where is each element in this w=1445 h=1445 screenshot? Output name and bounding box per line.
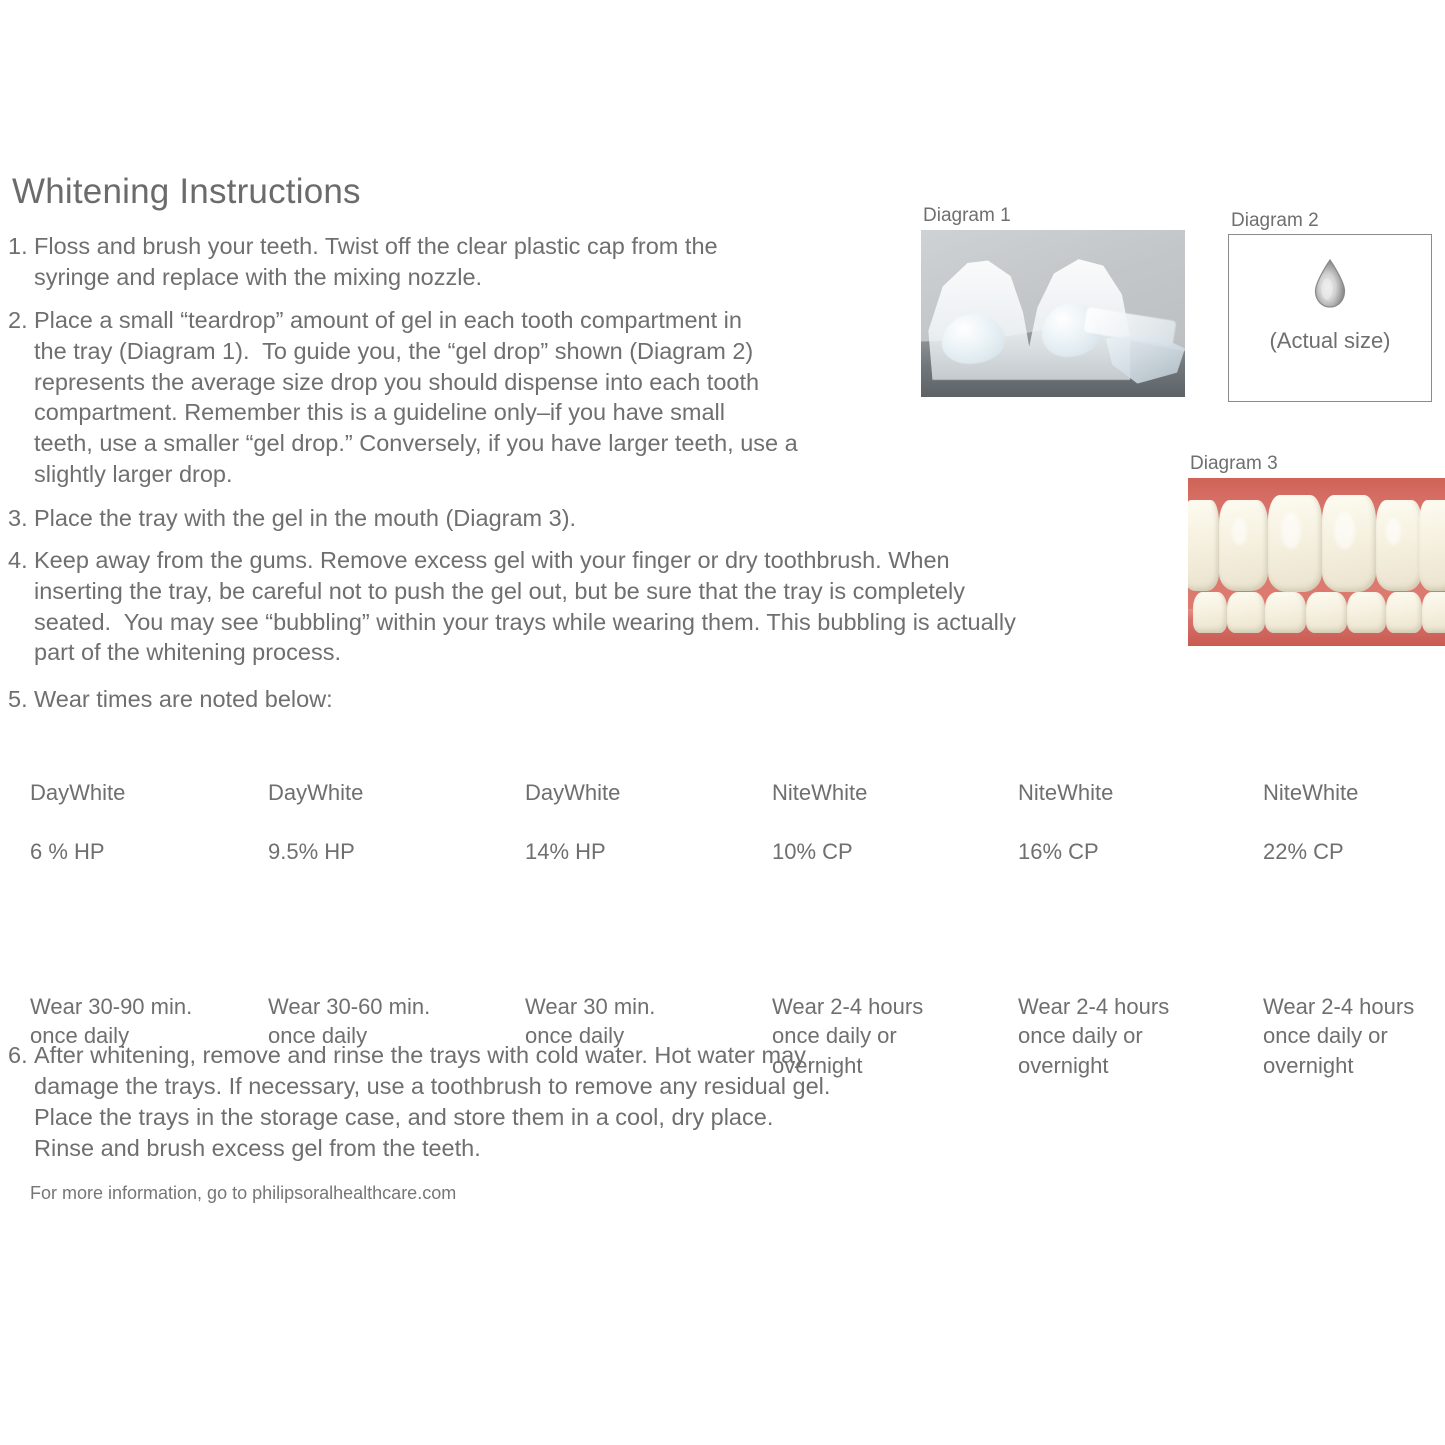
step-line: Floss and brush your teeth. Twist off th… bbox=[34, 231, 828, 262]
wear-times-column: DayWhite 6 % HP Wear 30-90 min. once dai… bbox=[30, 748, 192, 1080]
wear-times-column: DayWhite 9.5% HP Wear 30-60 min. once da… bbox=[268, 748, 430, 1080]
gel-blob-left bbox=[942, 314, 1005, 364]
instruction-step-6: 6. After whitening, remove and rinse the… bbox=[8, 1040, 938, 1164]
tooth-lower bbox=[1306, 592, 1347, 632]
diagram-1-tray-photo bbox=[921, 230, 1185, 397]
instruction-step-5: 5. Wear times are noted below: bbox=[8, 684, 508, 715]
product-brand: NiteWhite bbox=[1018, 778, 1169, 808]
instruction-step-2: 2. Place a small “teardrop” amount of ge… bbox=[8, 305, 888, 490]
gel-drop-icon bbox=[1312, 259, 1349, 309]
wear-times-column: NiteWhite 22% CP Wear 2-4 hours once dai… bbox=[1263, 748, 1414, 1110]
step-line: Place a small “teardrop” amount of gel i… bbox=[34, 305, 888, 336]
step-line: Wear times are noted below: bbox=[34, 684, 508, 715]
step-number: 6. bbox=[8, 1040, 34, 1071]
product-brand: DayWhite bbox=[30, 778, 192, 808]
step-line: seated. You may see “bubbling” within yo… bbox=[34, 607, 1138, 638]
step-line: Rinse and brush excess gel from the teet… bbox=[34, 1133, 938, 1164]
diagram-3-caption: Diagram 3 bbox=[1190, 453, 1278, 475]
tooth-shine bbox=[1281, 512, 1302, 549]
diagram-2-caption: Diagram 2 bbox=[1231, 210, 1319, 232]
product-brand: DayWhite bbox=[268, 778, 430, 808]
diagram-1-caption: Diagram 1 bbox=[923, 205, 1011, 227]
wear-times-column: NiteWhite 16% CP Wear 2-4 hours once dai… bbox=[1018, 748, 1169, 1110]
step-line: Place the tray with the gel in the mouth… bbox=[34, 503, 708, 534]
step-line: teeth, use a smaller “gel drop.” Convers… bbox=[34, 428, 888, 459]
step-text: Keep away from the gums. Remove excess g… bbox=[34, 545, 1138, 668]
product-brand: NiteWhite bbox=[772, 778, 923, 808]
tooth-lower bbox=[1227, 592, 1266, 632]
instruction-step-1: 1. Floss and brush your teeth. Twist off… bbox=[8, 231, 828, 293]
product-concentration: 10% CP bbox=[772, 837, 923, 867]
tooth-upper bbox=[1219, 500, 1268, 591]
step-line: Place the trays in the storage case, and… bbox=[34, 1102, 938, 1133]
tooth-lower bbox=[1193, 592, 1226, 632]
diagram-3-teeth-photo bbox=[1188, 478, 1445, 646]
step-line: After whitening, remove and rinse the tr… bbox=[34, 1040, 938, 1071]
wear-times-column: DayWhite 14% HP Wear 30 min. once daily bbox=[525, 748, 655, 1080]
product-wear-time: Wear 2-4 hours once daily or overnight bbox=[1263, 992, 1414, 1081]
tooth-upper bbox=[1376, 500, 1422, 591]
step-line: syringe and replace with the mixing nozz… bbox=[34, 262, 828, 293]
actual-size-label: (Actual size) bbox=[1229, 328, 1431, 354]
product-brand: NiteWhite bbox=[1263, 778, 1414, 808]
step-text: Wear times are noted below: bbox=[34, 684, 508, 715]
product-concentration: 6 % HP bbox=[30, 837, 192, 867]
step-text: After whitening, remove and rinse the tr… bbox=[34, 1040, 938, 1164]
step-line: Keep away from the gums. Remove excess g… bbox=[34, 545, 1138, 576]
instruction-step-3: 3. Place the tray with the gel in the mo… bbox=[8, 503, 708, 534]
step-text: Place a small “teardrop” amount of gel i… bbox=[34, 305, 888, 490]
product-wear-time: Wear 2-4 hours once daily or overnight bbox=[1018, 992, 1169, 1081]
product-concentration: 14% HP bbox=[525, 837, 655, 867]
product-concentration: 9.5% HP bbox=[268, 837, 430, 867]
tooth-lower bbox=[1422, 592, 1445, 632]
step-number: 2. bbox=[8, 305, 34, 336]
step-line: inserting the tray, be careful not to pu… bbox=[34, 576, 1138, 607]
diagram-2-actual-size-box: (Actual size) bbox=[1228, 234, 1432, 402]
page-title: Whitening Instructions bbox=[12, 172, 361, 212]
step-line: slightly larger drop. bbox=[34, 459, 888, 490]
footer-note: For more information, go to philipsoralh… bbox=[30, 1183, 456, 1204]
whitening-instructions-page: Whitening Instructions 1. Floss and brus… bbox=[0, 0, 1445, 1445]
instruction-step-4: 4. Keep away from the gums. Remove exces… bbox=[8, 545, 1138, 668]
tooth-lower bbox=[1265, 592, 1306, 632]
product-concentration: 22% CP bbox=[1263, 837, 1414, 867]
product-concentration: 16% CP bbox=[1018, 837, 1169, 867]
tooth-shine bbox=[1334, 512, 1355, 549]
step-number: 1. bbox=[8, 231, 34, 262]
step-text: Place the tray with the gel in the mouth… bbox=[34, 503, 708, 534]
tooth-upper bbox=[1188, 500, 1219, 591]
step-line: represents the average size drop you sho… bbox=[34, 367, 888, 398]
step-number: 3. bbox=[8, 503, 34, 534]
step-number: 5. bbox=[8, 684, 34, 715]
step-line: the tray (Diagram 1). To guide you, the … bbox=[34, 336, 888, 367]
step-line: damage the trays. If necessary, use a to… bbox=[34, 1071, 938, 1102]
product-brand: DayWhite bbox=[525, 778, 655, 808]
tooth-shine bbox=[1232, 518, 1247, 545]
step-line: part of the whitening process. bbox=[34, 637, 1138, 668]
tooth-lower bbox=[1386, 592, 1422, 632]
step-text: Floss and brush your teeth. Twist off th… bbox=[34, 231, 828, 293]
step-line: compartment. Remember this is a guidelin… bbox=[34, 397, 888, 428]
step-number: 4. bbox=[8, 545, 34, 576]
tooth-lower bbox=[1347, 592, 1386, 632]
tooth-upper bbox=[1419, 500, 1445, 591]
